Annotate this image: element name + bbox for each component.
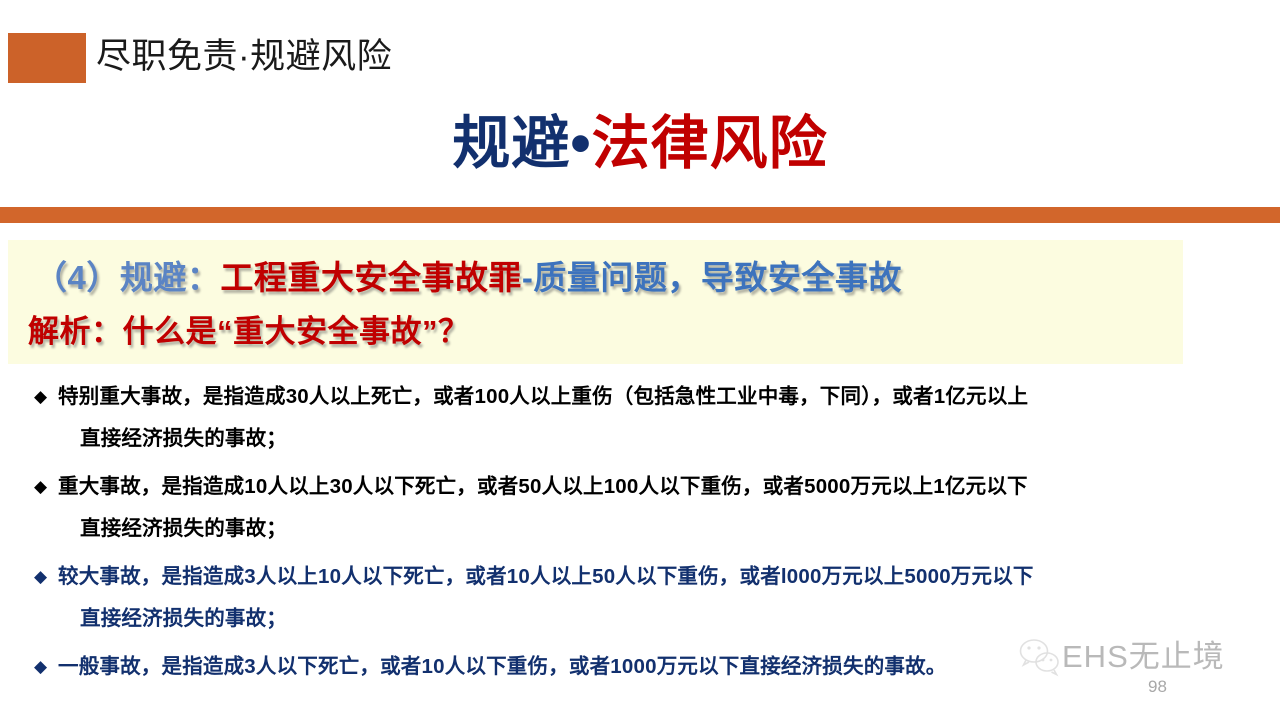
subtitle-crime-name: 工程重大安全事故罪: [220, 259, 522, 296]
diamond-bullet-icon: ◆: [20, 376, 58, 418]
list-item-text: 重大事故，是指造成10人以上30人以下死亡，或者50人以上100人以下重伤，或者…: [58, 466, 1270, 550]
subtitle-line-1: （4）规避：工程重大安全事故罪-质量问题，导致安全事故: [34, 256, 902, 300]
header-accent-square: [8, 33, 86, 83]
page-title-part-navy: 规避•: [452, 111, 591, 176]
diamond-bullet-icon: ◆: [20, 556, 58, 598]
accident-definition-list: ◆ 特别重大事故，是指造成30人以上死亡，或者100人以上重伤（包括急性工业中毒…: [20, 376, 1270, 694]
list-item-line-1: 一般事故，是指造成3人以下死亡，或者10人以下重伤，或者1000万元以下直接经济…: [58, 655, 947, 678]
list-item-text: 较大事故，是指造成3人以上10人以下死亡，或者10人以上50人以下重伤，或者l0…: [58, 556, 1270, 640]
list-item-line-2: 直接经济损失的事故；: [58, 508, 1270, 550]
list-item: ◆ 特别重大事故，是指造成30人以上死亡，或者100人以上重伤（包括急性工业中毒…: [20, 376, 1270, 460]
slide-header: 尽职免责·规避风险: [0, 0, 1280, 100]
list-item: ◆ 一般事故，是指造成3人以下死亡，或者10人以下重伤，或者1000万元以下直接…: [20, 646, 1270, 688]
list-item-line-1: 特别重大事故，是指造成30人以上死亡，或者100人以上重伤（包括急性工业中毒，下…: [58, 385, 1028, 408]
header-title: 尽职免责·规避风险: [96, 34, 392, 80]
list-item-text: 特别重大事故，是指造成30人以上死亡，或者100人以上重伤（包括急性工业中毒，下…: [58, 376, 1270, 460]
subtitle-suffix: -质量问题，导致安全事故: [522, 259, 902, 296]
list-item-text: 一般事故，是指造成3人以下死亡，或者10人以下重伤，或者1000万元以下直接经济…: [58, 646, 1270, 688]
diamond-bullet-icon: ◆: [20, 646, 58, 688]
page-title-part-red: 法律风险: [592, 111, 828, 176]
page-title: 规避•法律风险: [0, 108, 1280, 180]
subtitle-line-2: 解析：什么是“重大安全事故”？: [28, 310, 470, 354]
list-item: ◆ 较大事故，是指造成3人以上10人以下死亡，或者10人以上50人以下重伤，或者…: [20, 556, 1270, 640]
list-item-line-2: 直接经济损失的事故；: [58, 598, 1270, 640]
subtitle-prefix: （4）规避：: [34, 259, 220, 296]
section-divider: [0, 207, 1280, 223]
list-item-line-2: 直接经济损失的事故；: [58, 418, 1270, 460]
list-item-line-1: 较大事故，是指造成3人以上10人以下死亡，或者10人以上50人以下重伤，或者l0…: [58, 565, 1034, 588]
list-item: ◆ 重大事故，是指造成10人以上30人以下死亡，或者50人以上100人以下重伤，…: [20, 466, 1270, 550]
list-item-line-1: 重大事故，是指造成10人以上30人以下死亡，或者50人以上100人以下重伤，或者…: [58, 475, 1028, 498]
diamond-bullet-icon: ◆: [20, 466, 58, 508]
